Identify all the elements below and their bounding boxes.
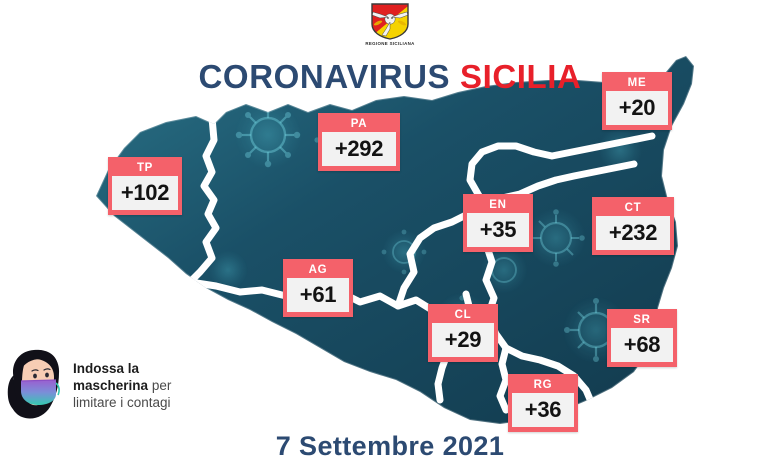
page-title: CORONAVIRUS SICILIA bbox=[0, 58, 780, 96]
province-value: +68 bbox=[611, 328, 673, 362]
report-date: 7 Settembre 2021 bbox=[0, 431, 780, 462]
province-value: +102 bbox=[112, 176, 178, 210]
province-code: SR bbox=[611, 313, 673, 328]
regione-siciliana-logo: REGIONE SICILIANA bbox=[0, 2, 780, 46]
province-badge-cl[interactable]: CL +29 bbox=[428, 304, 498, 362]
province-code: EN bbox=[467, 198, 529, 213]
trinacria-shield-icon bbox=[367, 2, 413, 40]
province-badge-ct[interactable]: CT +232 bbox=[592, 197, 674, 255]
province-badge-pa[interactable]: PA +292 bbox=[318, 113, 400, 171]
title-part-coronavirus: CORONAVIRUS bbox=[199, 58, 451, 95]
province-value: +20 bbox=[606, 91, 668, 125]
province-badge-rg[interactable]: RG +36 bbox=[508, 374, 578, 432]
province-badge-tp[interactable]: TP +102 bbox=[108, 157, 182, 215]
province-code: AG bbox=[287, 263, 349, 278]
province-value: +36 bbox=[512, 393, 574, 427]
province-badge-sr[interactable]: SR +68 bbox=[607, 309, 677, 367]
coronavirus-sicilia-infographic: REGIONE SICILIANA CORONAVIRUS SICILIA TP… bbox=[0, 0, 780, 470]
province-value: +35 bbox=[467, 213, 529, 247]
province-value: +61 bbox=[287, 278, 349, 312]
mask-line3: limitare i contagi bbox=[73, 395, 171, 410]
mask-line1: Indossa la bbox=[73, 361, 139, 376]
province-value: +232 bbox=[596, 216, 670, 250]
province-value: +292 bbox=[322, 132, 396, 166]
province-code: PA bbox=[322, 117, 396, 132]
mask-reminder: Indossa la mascherina per limitare i con… bbox=[4, 345, 219, 425]
province-code: CL bbox=[432, 308, 494, 323]
logo-caption: REGIONE SICILIANA bbox=[0, 41, 780, 46]
mask-line2-normal: per bbox=[152, 378, 172, 393]
province-code: RG bbox=[512, 378, 574, 393]
province-badge-en[interactable]: EN +35 bbox=[463, 194, 533, 252]
title-part-sicilia: SICILIA bbox=[460, 58, 582, 95]
province-badge-ag[interactable]: AG +61 bbox=[283, 259, 353, 317]
person-wearing-mask-icon bbox=[4, 345, 68, 425]
province-value: +29 bbox=[432, 323, 494, 357]
province-code: CT bbox=[596, 201, 670, 216]
mask-line2-bold: mascherina bbox=[73, 378, 148, 393]
mask-reminder-text: Indossa la mascherina per limitare i con… bbox=[73, 360, 171, 411]
province-code: TP bbox=[112, 161, 178, 176]
